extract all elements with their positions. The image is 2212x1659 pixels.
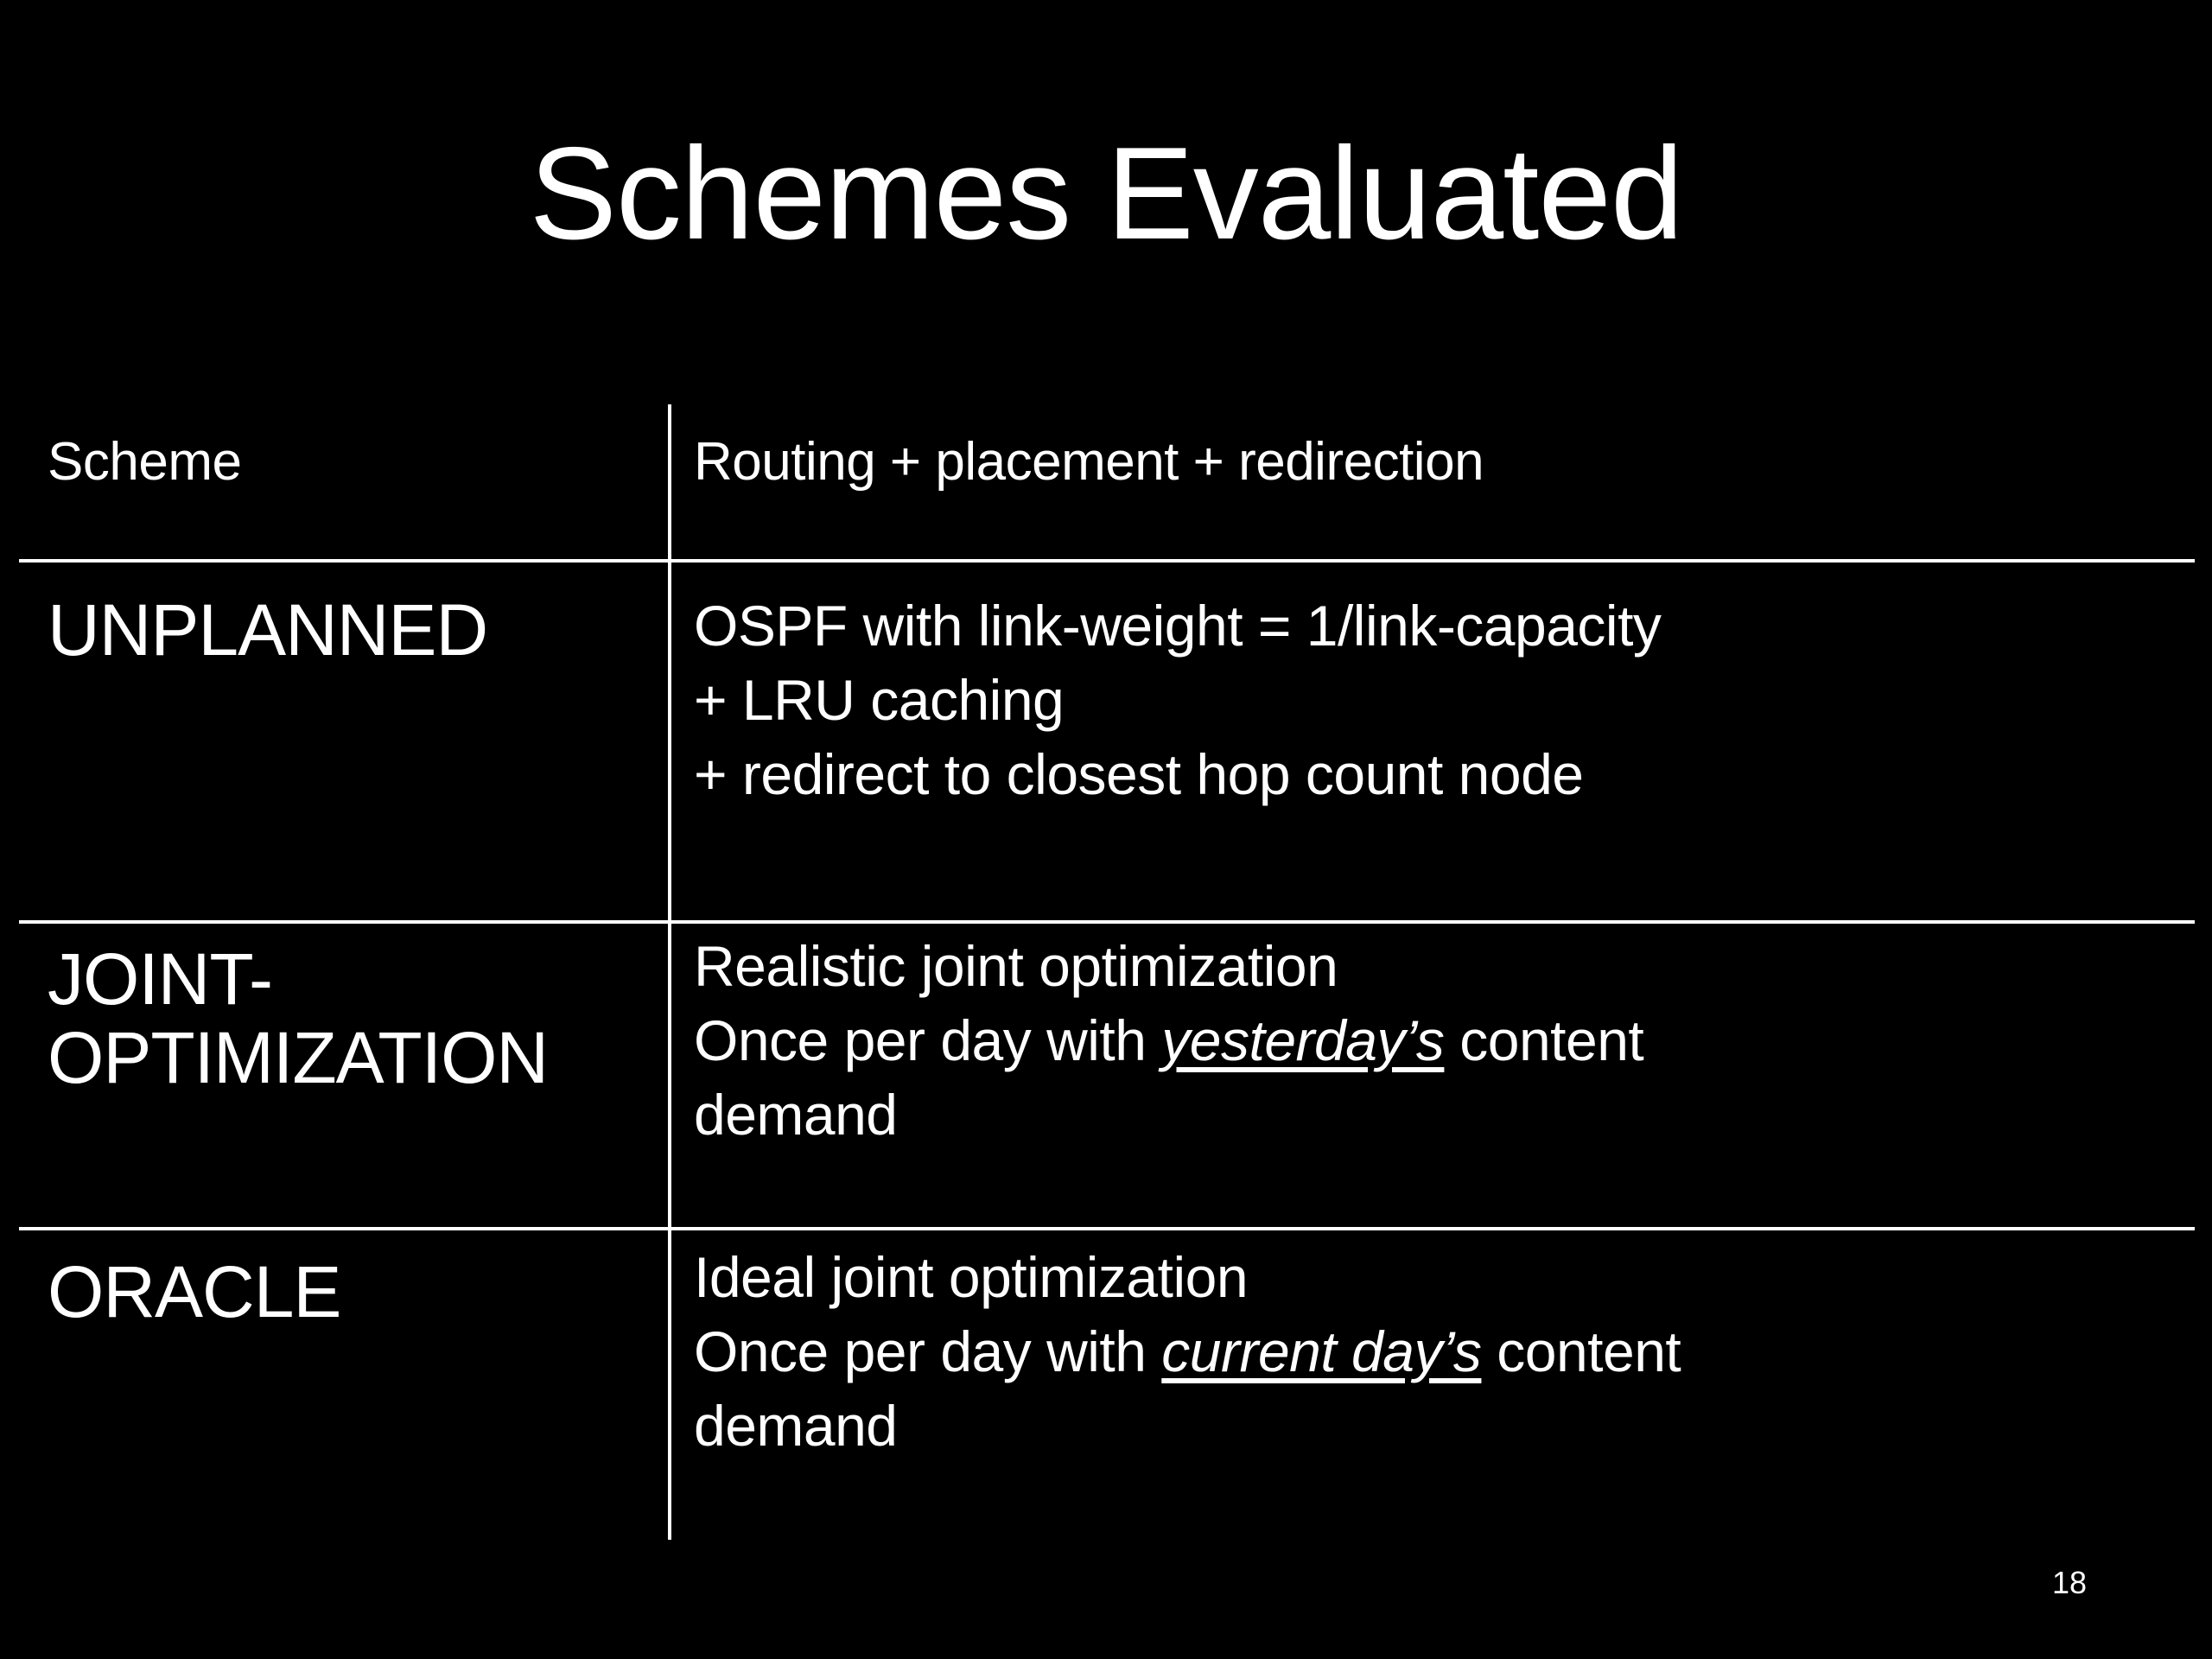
description-line: demand [694, 1389, 2180, 1464]
table-row-scheme-joint-optimization: JOINT- OPTIMIZATION [48, 940, 652, 1096]
description-line: + redirect to closest hop count node [694, 738, 2180, 812]
description-line: Realistic joint optimization [694, 930, 2180, 1004]
schemes-table: Scheme Routing + placement + redirection… [19, 404, 2195, 1541]
table-row-description-joint-optimization: Realistic joint optimization Once per da… [694, 930, 2180, 1152]
description-text: + redirect to closest hop count node [694, 742, 1584, 806]
slide-page-number: 18 [2052, 1567, 2087, 1599]
description-line: Ideal joint optimization [694, 1241, 2180, 1315]
description-line: Once per day with yesterday’s content [694, 1004, 2180, 1078]
table-rule-under-row-unplanned [19, 920, 2195, 924]
description-text: demand [694, 1394, 898, 1458]
description-line: OSPF with link-weight = 1/link-capacity [694, 589, 2180, 664]
description-text: content [1444, 1008, 1643, 1072]
table-column-divider [668, 404, 671, 1540]
emphasis-yesterdays: yesterday’s [1161, 1008, 1444, 1072]
table-row-scheme-unplanned: UNPLANNED [48, 591, 652, 670]
scheme-name-line: UNPLANNED [48, 591, 652, 670]
description-text: + LRU caching [694, 668, 1064, 732]
description-line: + LRU caching [694, 664, 2180, 738]
table-row-description-oracle: Ideal joint optimization Once per day wi… [694, 1241, 2180, 1463]
scheme-name-line: ORACLE [48, 1253, 652, 1332]
description-text: Once per day with [694, 1319, 1161, 1383]
slide-canvas: Schemes Evaluated Scheme Routing + place… [0, 0, 2212, 1659]
description-text: demand [694, 1083, 898, 1147]
table-row-description-unplanned: OSPF with link-weight = 1/link-capacity … [694, 589, 2180, 811]
description-text: content [1481, 1319, 1681, 1383]
description-line: Once per day with current day’s content [694, 1315, 2180, 1389]
description-text: Realistic joint optimization [694, 934, 1338, 998]
description-line: demand [694, 1078, 2180, 1153]
scheme-name-line: OPTIMIZATION [48, 1019, 652, 1097]
scheme-name-line: JOINT- [48, 940, 652, 1019]
table-rule-under-header [19, 559, 2195, 563]
description-text: Ideal joint optimization [694, 1245, 1248, 1309]
table-header-scheme: Scheme [48, 432, 652, 492]
table-row-scheme-oracle: ORACLE [48, 1253, 652, 1332]
page-title: Schemes Evaluated [0, 128, 2212, 259]
emphasis-current-days: current day’s [1161, 1319, 1481, 1383]
description-text: Once per day with [694, 1008, 1161, 1072]
table-rule-under-row-joint-optimization [19, 1227, 2195, 1230]
table-header-description: Routing + placement + redirection [694, 432, 2180, 492]
description-text: OSPF with link-weight = 1/link-capacity [694, 594, 1661, 658]
